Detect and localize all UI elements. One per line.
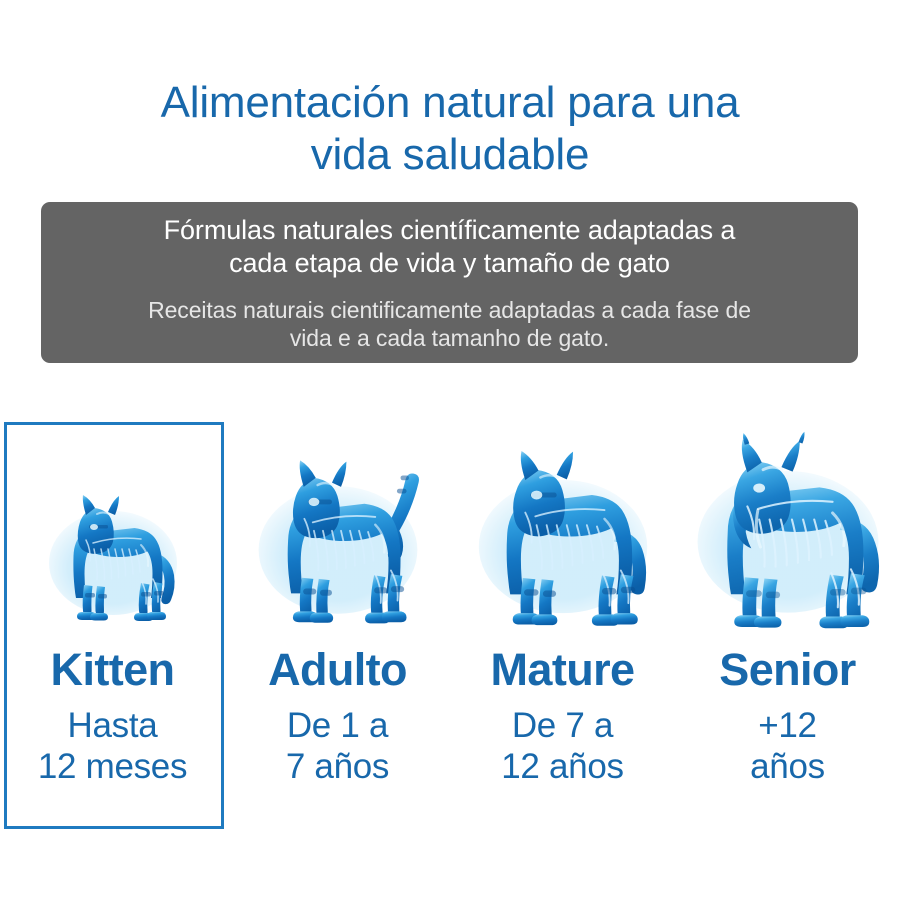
- cat-xray-kitten-icon: [0, 427, 225, 627]
- claim-banner-primary-text: Fórmulas naturales científicamente adapt…: [164, 214, 736, 280]
- stage-range-senior: +12 años: [675, 705, 900, 788]
- life-stage-row: Kitten Hasta 12 meses: [0, 415, 900, 845]
- stage-text-kitten: Kitten Hasta 12 meses: [0, 647, 225, 788]
- stage-text-mature: Mature De 7 a 12 años: [450, 647, 675, 788]
- claim-banner-secondary-text: Receitas naturais cientificamente adapta…: [148, 296, 751, 353]
- stage-range-mature: De 7 a 12 años: [450, 705, 675, 788]
- stage-name-kitten: Kitten: [0, 647, 225, 692]
- claim-banner: Fórmulas naturales científicamente adapt…: [41, 202, 858, 363]
- cat-xray-mature-icon: [450, 427, 675, 627]
- stage-name-senior: Senior: [675, 647, 900, 692]
- stage-card-adulto[interactable]: Adulto De 1 a 7 años: [225, 415, 450, 845]
- stage-name-adulto: Adulto: [225, 647, 450, 692]
- stage-card-senior[interactable]: Senior +12 años: [675, 415, 900, 845]
- cat-xray-senior-icon: [675, 427, 900, 627]
- stage-range-kitten: Hasta 12 meses: [0, 705, 225, 788]
- stage-text-senior: Senior +12 años: [675, 647, 900, 788]
- infographic-page: Alimentación natural para una vida salud…: [0, 0, 900, 900]
- page-title: Alimentación natural para una vida salud…: [0, 77, 900, 181]
- stage-text-adulto: Adulto De 1 a 7 años: [225, 647, 450, 788]
- stage-card-mature[interactable]: Mature De 7 a 12 años: [450, 415, 675, 845]
- cat-xray-adult-icon: [225, 427, 450, 627]
- stage-range-adulto: De 1 a 7 años: [225, 705, 450, 788]
- stage-card-kitten[interactable]: Kitten Hasta 12 meses: [0, 415, 225, 845]
- stage-name-mature: Mature: [450, 647, 675, 692]
